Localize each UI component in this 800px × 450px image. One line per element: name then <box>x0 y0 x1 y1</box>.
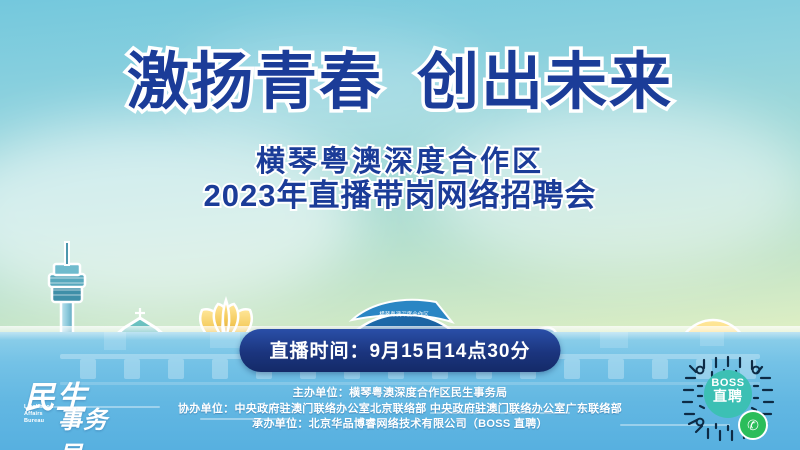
bureau-logo-en-line2: Affairs <box>24 411 54 418</box>
broadcast-time-badge: 直播时间：9月15日14点30分 <box>240 329 561 372</box>
subtitle-line-2: 2023年直播带岗网络招聘会 <box>0 170 800 215</box>
qr-center-logo[interactable]: BOSS 直聘 <box>704 370 752 418</box>
wechat-miniprogram-icon[interactable]: ✆ <box>738 410 768 440</box>
headline-left: 激扬青春 <box>127 48 383 117</box>
qr-brand-cn-label: 直聘 <box>704 389 752 404</box>
poster-canvas: 横琴粤澳深度合作区 <box>0 0 800 450</box>
bureau-logo-cn-line2: 事务局 <box>58 400 130 450</box>
headline-right: 创出未来 <box>417 48 673 117</box>
bureau-logo: 民生 事务局 Livelihood Affairs Bureau <box>18 372 130 440</box>
bureau-logo-en-line3: Bureau <box>24 418 54 425</box>
qr-code-badge[interactable]: BOSS 直聘 ✆ <box>678 352 778 444</box>
arch-label: 横琴粤澳深度合作区 <box>379 310 429 318</box>
page-title: 激扬青春创出未来 <box>0 52 800 114</box>
bureau-logo-en-line1: Livelihood <box>24 404 54 411</box>
bureau-logo-en: Livelihood Affairs Bureau <box>24 404 54 425</box>
